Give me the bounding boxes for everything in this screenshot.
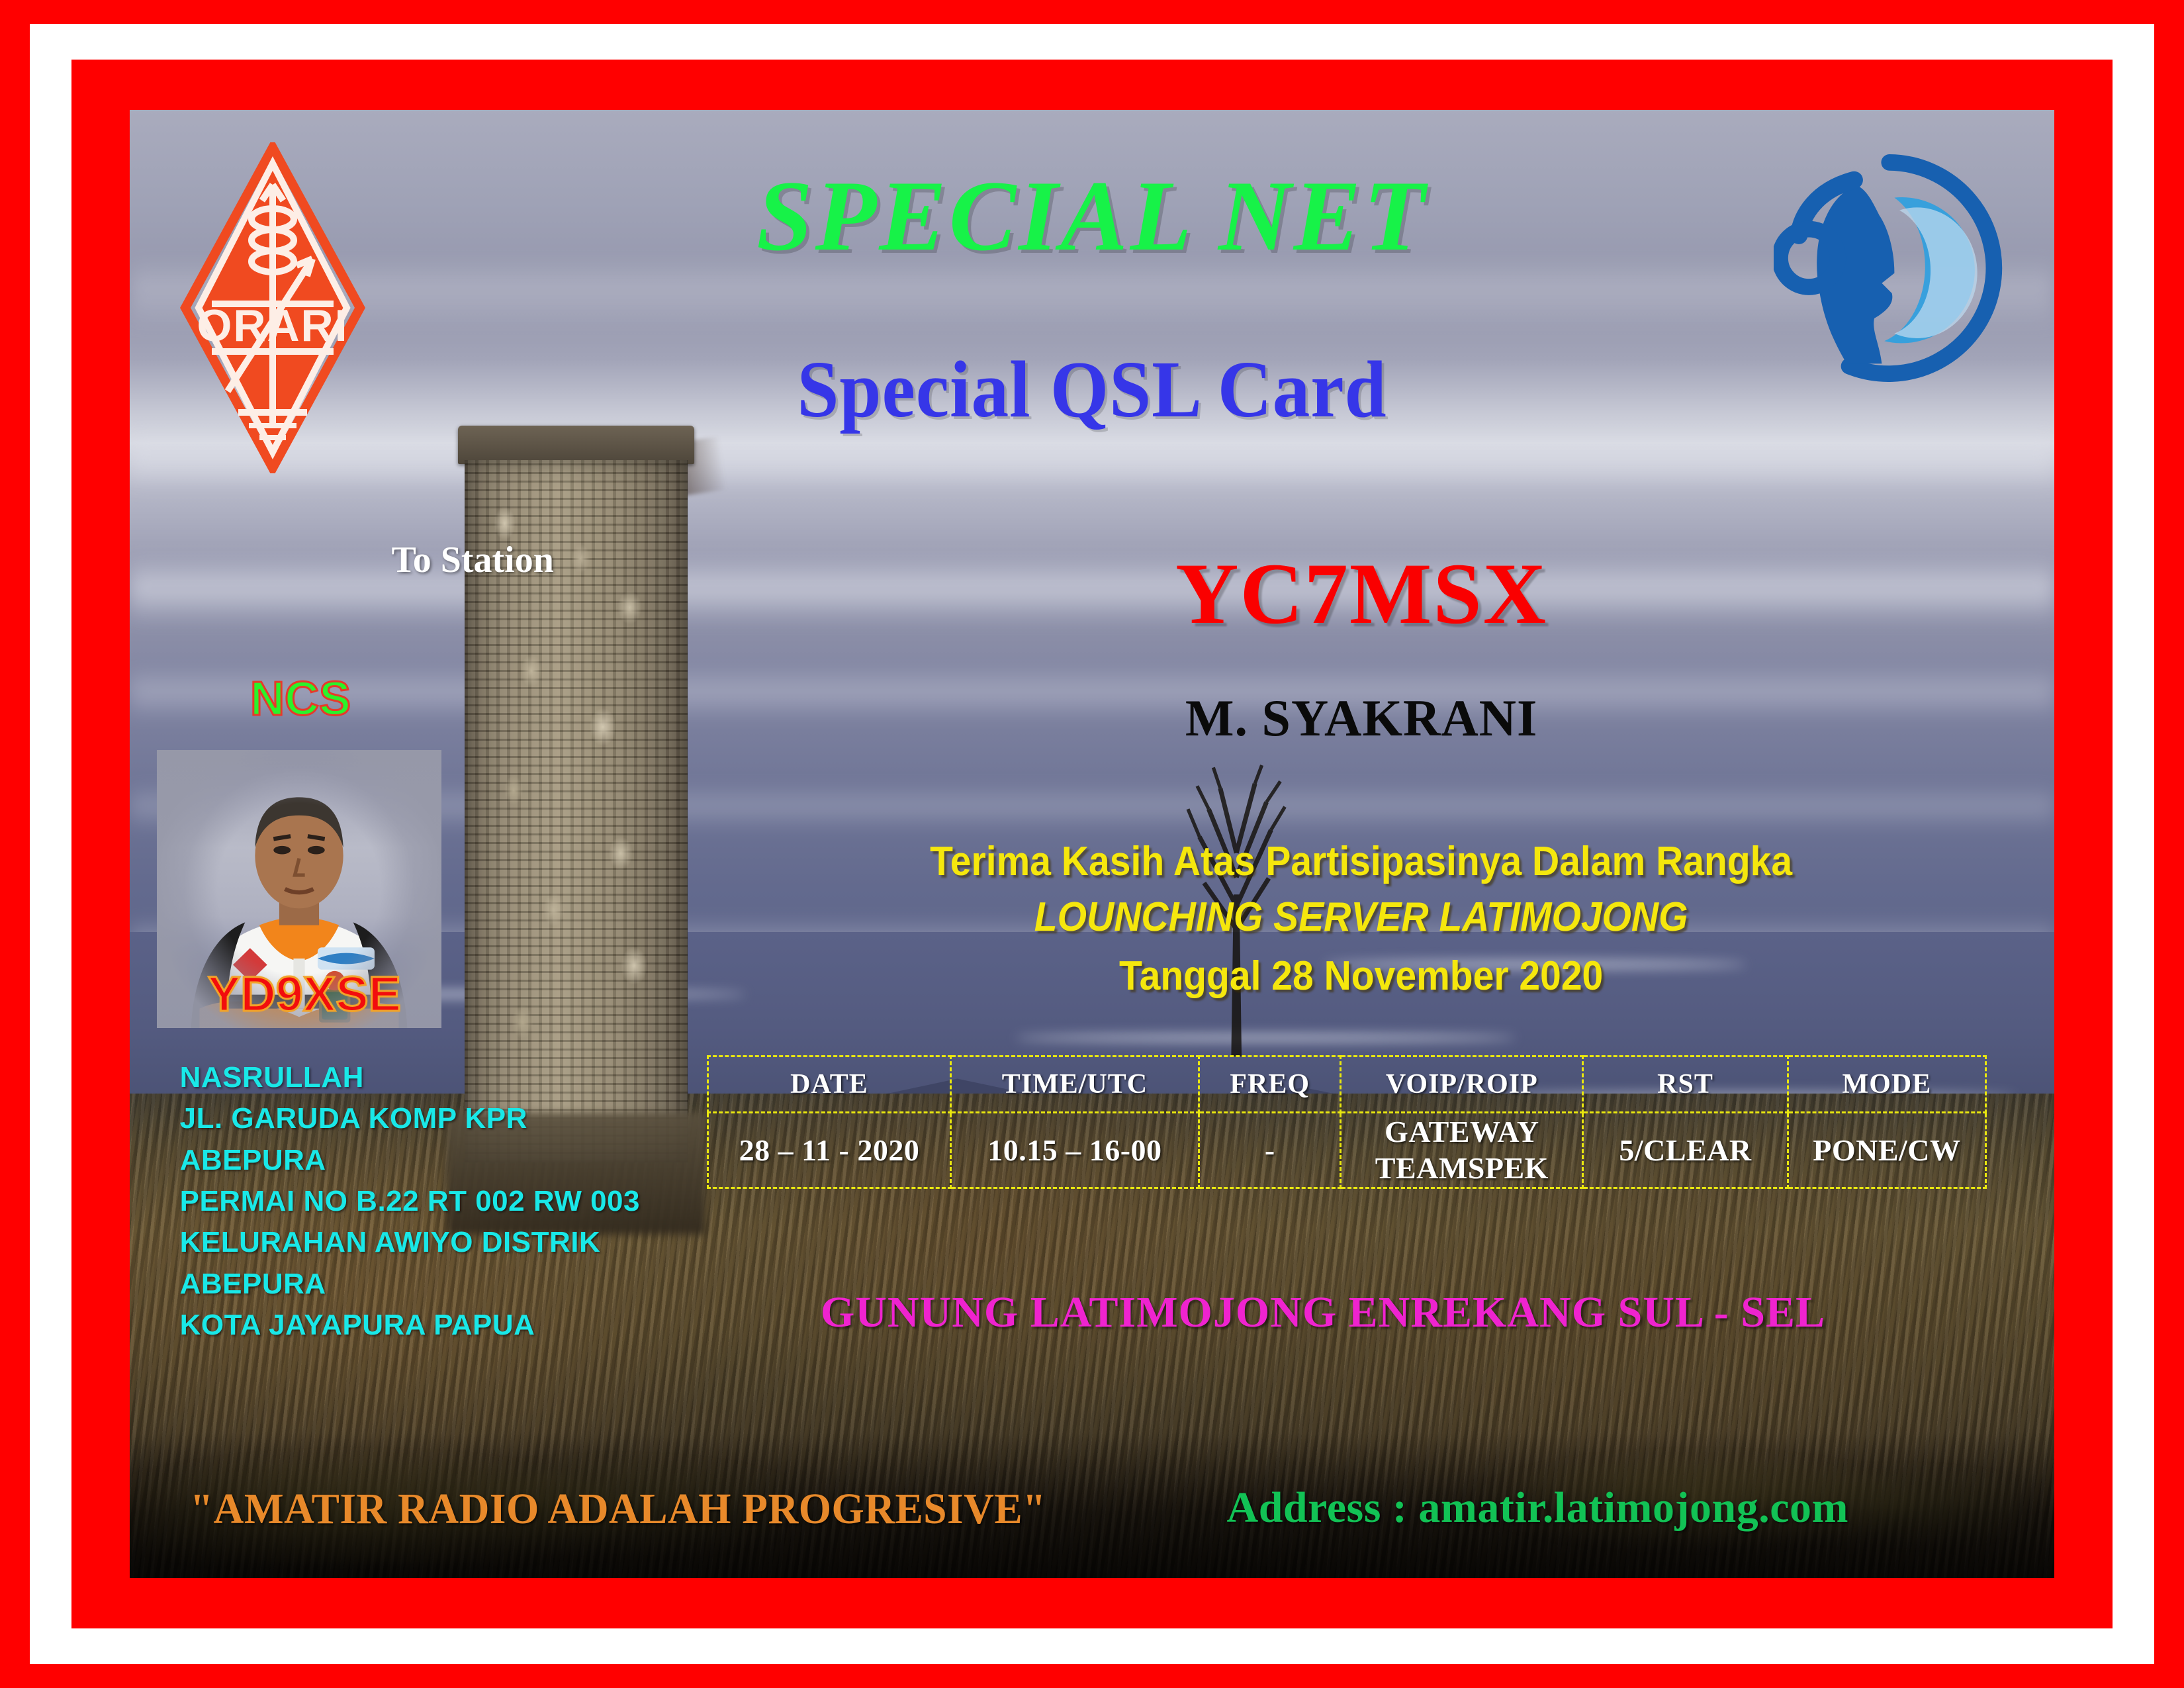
- table-header-row: DATE TIME/UTC FREQ VOIP/ROIP RST MODE: [708, 1056, 1986, 1113]
- event-thanks-line: Terima Kasih Atas Partisipasinya Dalam R…: [777, 838, 1946, 885]
- cell-rst: 5/CLEAR: [1583, 1113, 1788, 1188]
- cell-voip-line2: TEAMSPEK: [1375, 1151, 1549, 1185]
- address-line: KELURAHAN AWIYO DISTRIK: [180, 1222, 640, 1263]
- cell-voip-line1: GATEWAY: [1385, 1115, 1539, 1149]
- column-header-freq: FREQ: [1199, 1056, 1341, 1113]
- ncs-address-block: NASRULLAH JL. GARUDA KOMP KPR ABEPURA PE…: [180, 1057, 640, 1346]
- station-callsign: YC7MSX: [784, 543, 1939, 644]
- card-white-frame: ORARI: [30, 24, 2154, 1664]
- column-header-time: TIME/UTC: [950, 1056, 1199, 1113]
- footer-motto: "AMATIR RADIO ADALAH PROGRESIVE": [190, 1484, 1046, 1534]
- cairn-cap: [458, 426, 695, 464]
- cell-mode: PONE/CW: [1788, 1113, 1986, 1188]
- card-background-photo: ORARI: [130, 110, 2054, 1578]
- column-header-mode: MODE: [1788, 1056, 1986, 1113]
- event-location-line: GUNUNG LATIMOJONG ENREKANG SUL - SEL: [707, 1288, 1938, 1338]
- event-name-line: LOUNCHING SERVER LATIMOJONG: [777, 894, 1946, 941]
- column-header-rst: RST: [1583, 1056, 1788, 1113]
- operator-name: M. SYAKRANI: [784, 688, 1939, 748]
- card-inner-red-frame: ORARI: [71, 60, 2113, 1628]
- address-line: PERMAI NO B.22 RT 002 RW 003: [180, 1181, 640, 1222]
- column-header-date: DATE: [708, 1056, 950, 1113]
- ncs-label: NCS: [191, 672, 410, 726]
- qsl-card: ORARI: [0, 0, 2184, 1688]
- address-line: ABEPURA: [180, 1264, 640, 1305]
- column-header-voip: VOIP/ROIP: [1341, 1056, 1583, 1113]
- cell-freq: -: [1199, 1113, 1341, 1188]
- cell-time: 10.15 – 16-00: [950, 1113, 1199, 1188]
- to-station-label: To Station: [391, 539, 553, 581]
- cell-voip: GATEWAY TEAMSPEK: [1341, 1113, 1583, 1188]
- ncs-callsign: YD9XSE: [172, 966, 437, 1022]
- footer-web-address: Address : amatir.latimojong.com: [1227, 1483, 1848, 1533]
- address-line: JL. GARUDA KOMP KPR: [180, 1098, 640, 1139]
- cell-date: 28 – 11 - 2020: [708, 1113, 950, 1188]
- address-line: NASRULLAH: [180, 1057, 640, 1098]
- address-line: ABEPURA: [180, 1140, 640, 1181]
- orari-logo-text: ORARI: [197, 301, 348, 351]
- event-date-line: Tanggal 28 November 2020: [777, 953, 1946, 1000]
- page-title: SPECIAL NET: [130, 165, 2054, 266]
- qso-log-table: DATE TIME/UTC FREQ VOIP/ROIP RST MODE 28…: [707, 1055, 1987, 1189]
- table-row: 28 – 11 - 2020 10.15 – 16-00 - GATEWAY T…: [708, 1113, 1986, 1188]
- cloud-band: [130, 433, 2054, 492]
- address-line: KOTA JAYAPURA PAPUA: [180, 1305, 640, 1346]
- page-subtitle: Special QSL Card: [197, 350, 1987, 430]
